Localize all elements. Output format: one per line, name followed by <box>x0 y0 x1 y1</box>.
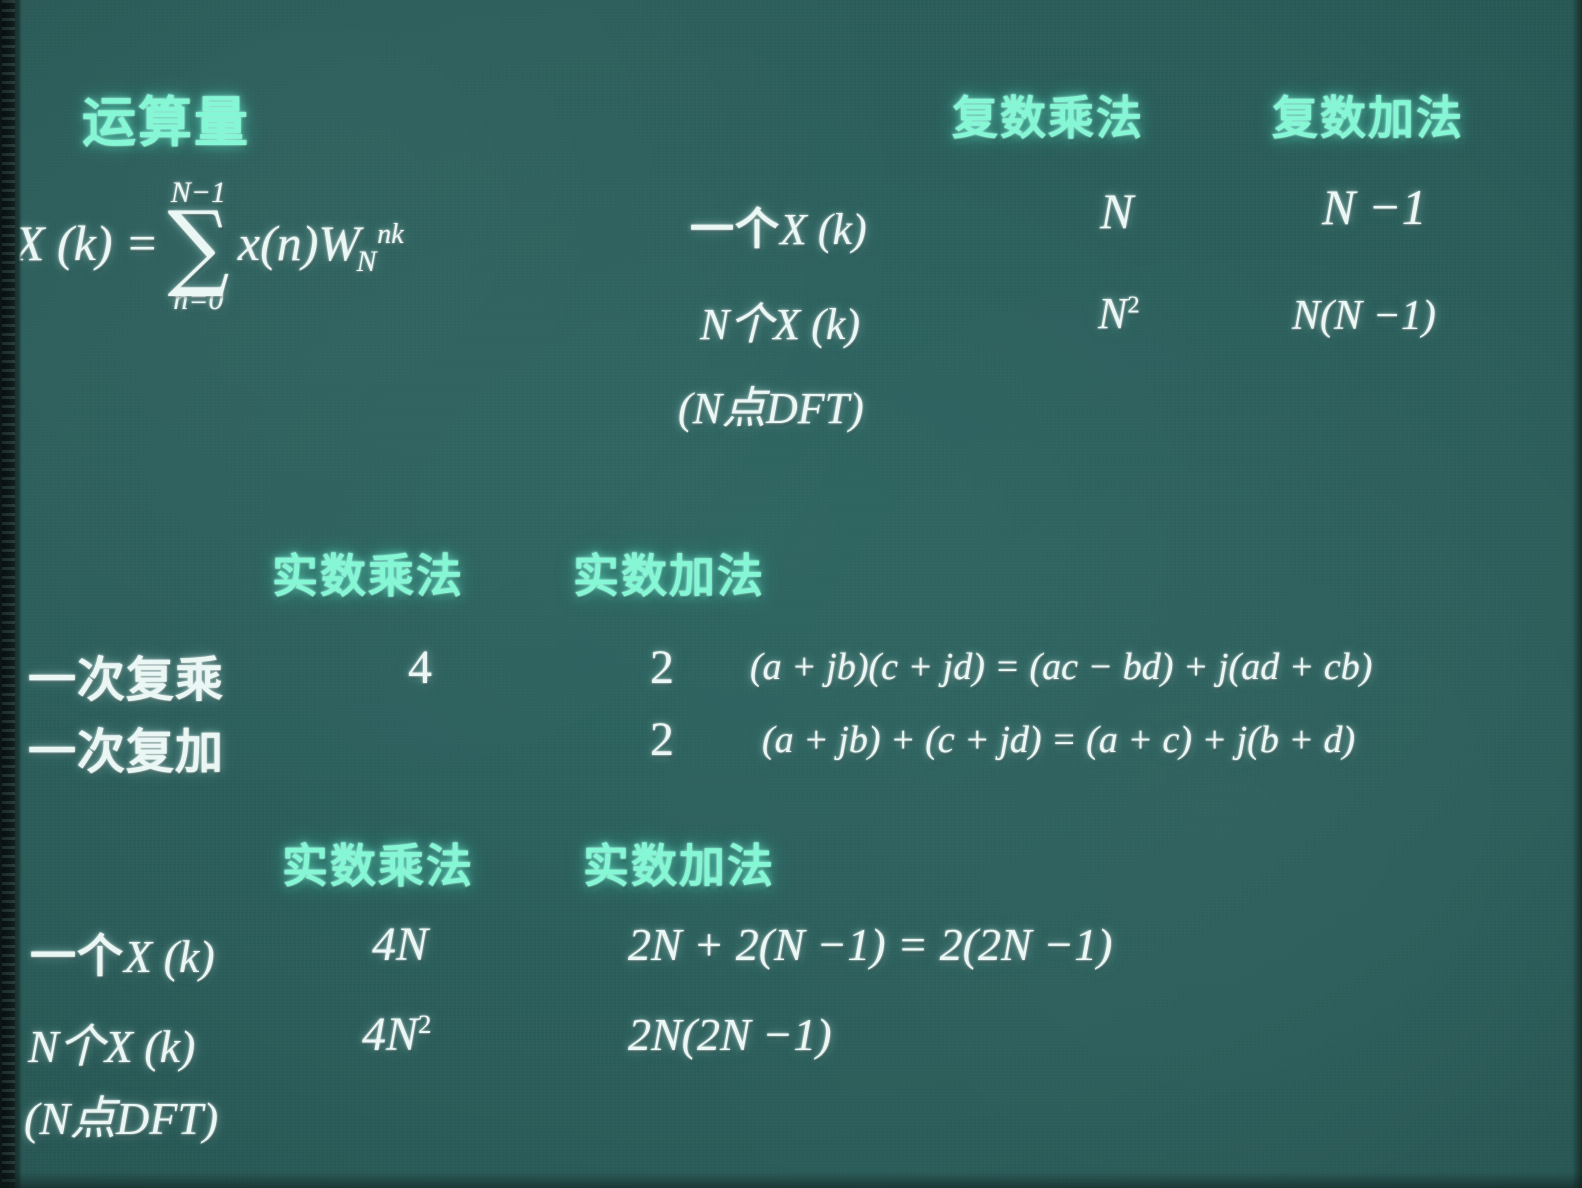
formula-term-subscript: N <box>356 245 376 278</box>
row-label-math: X (k) <box>773 300 860 349</box>
cell-exponent: 2 <box>418 1009 431 1039</box>
cell-complex-add-N-xk: N(N −1) <box>1292 292 1436 340</box>
blackboard-slide: 运算量 X (k) =N−1∑n=0x(n)WNnk 复数乘法 复数加法 一个X… <box>0 0 1582 1188</box>
section-title-operation-count: 运算量 <box>82 78 250 157</box>
header-real-addition-bottom: 实数加法 <box>583 830 775 896</box>
cell-real-mult-one-complex-mult: 4 <box>408 640 432 695</box>
cell-base: 4N <box>362 1008 418 1061</box>
cell-real-mult-one-xk: 4N <box>372 917 428 972</box>
formula-term-superscript: nk <box>377 219 403 250</box>
row-label-prefix: 一个 <box>30 929 124 983</box>
table-row: 一个X (k) <box>690 193 867 257</box>
left-film-edge <box>0 0 22 1188</box>
cell-real-add-one-complex-mult: 2 <box>650 640 674 695</box>
cell-real-mult-N-xk: 4N2 <box>362 1007 431 1062</box>
row-label-prefix-N: N个 <box>28 1021 105 1072</box>
dft-summation-formula: X (k) =N−1∑n=0x(n)WNnk <box>14 180 407 317</box>
cell-complex-add-one-xk: N −1 <box>1322 178 1427 236</box>
note-n-point-dft-top: (N点DFT) <box>678 372 864 436</box>
cell-real-add-N-xk: 2N(2N −1) <box>628 1008 832 1061</box>
row-label-prefix-N: N个 <box>700 300 773 349</box>
row-label-math: X (k) <box>780 205 867 254</box>
note-n-point-dft-bottom: (N点DFT) <box>24 1082 218 1148</box>
cell-complex-mult-one-xk: N <box>1100 182 1133 240</box>
bottom-vignette <box>0 1172 1582 1188</box>
header-real-multiplication-bottom: 实数乘法 <box>282 830 474 896</box>
header-real-addition-middle: 实数加法 <box>573 540 765 606</box>
formula-lhs: X (k) = <box>14 215 159 271</box>
cell-exponent: 2 <box>1127 291 1139 318</box>
cell-real-add-one-xk: 2N + 2(N −1) = 2(2N −1) <box>628 918 1112 971</box>
identity-complex-addition: (a + jb) + (c + jd) = (a + c) + j(b + d) <box>762 718 1355 762</box>
sigma-icon: ∑ <box>167 208 229 285</box>
row-label-math: X (k) <box>124 931 215 982</box>
row-label-prefix: 一个 <box>690 204 780 255</box>
formula-term: x(n)W <box>238 215 360 271</box>
row-label-math: X (k) <box>105 1021 196 1072</box>
right-vignette <box>1572 0 1582 1188</box>
cell-real-add-one-complex-add: 2 <box>650 712 674 767</box>
table-row: N个X (k) <box>28 1010 195 1076</box>
table-row: 一个X (k) <box>30 920 215 986</box>
header-real-multiplication-middle: 实数乘法 <box>272 540 464 606</box>
row-label-one-complex-mult: 一次复乘 <box>28 640 224 710</box>
cell-complex-mult-N-xk: N2 <box>1098 288 1140 339</box>
table-row: N个X (k) <box>700 288 860 352</box>
header-complex-multiplication: 复数乘法 <box>952 82 1144 148</box>
row-label-one-complex-add: 一次复加 <box>28 712 224 782</box>
header-complex-addition: 复数加法 <box>1272 82 1464 148</box>
summation-operator: N−1∑n=0 <box>165 178 232 315</box>
cell-base: N <box>1098 289 1127 338</box>
identity-complex-multiplication: (a + jb)(c + jd) = (ac − bd) + j(ad + cb… <box>750 645 1372 689</box>
